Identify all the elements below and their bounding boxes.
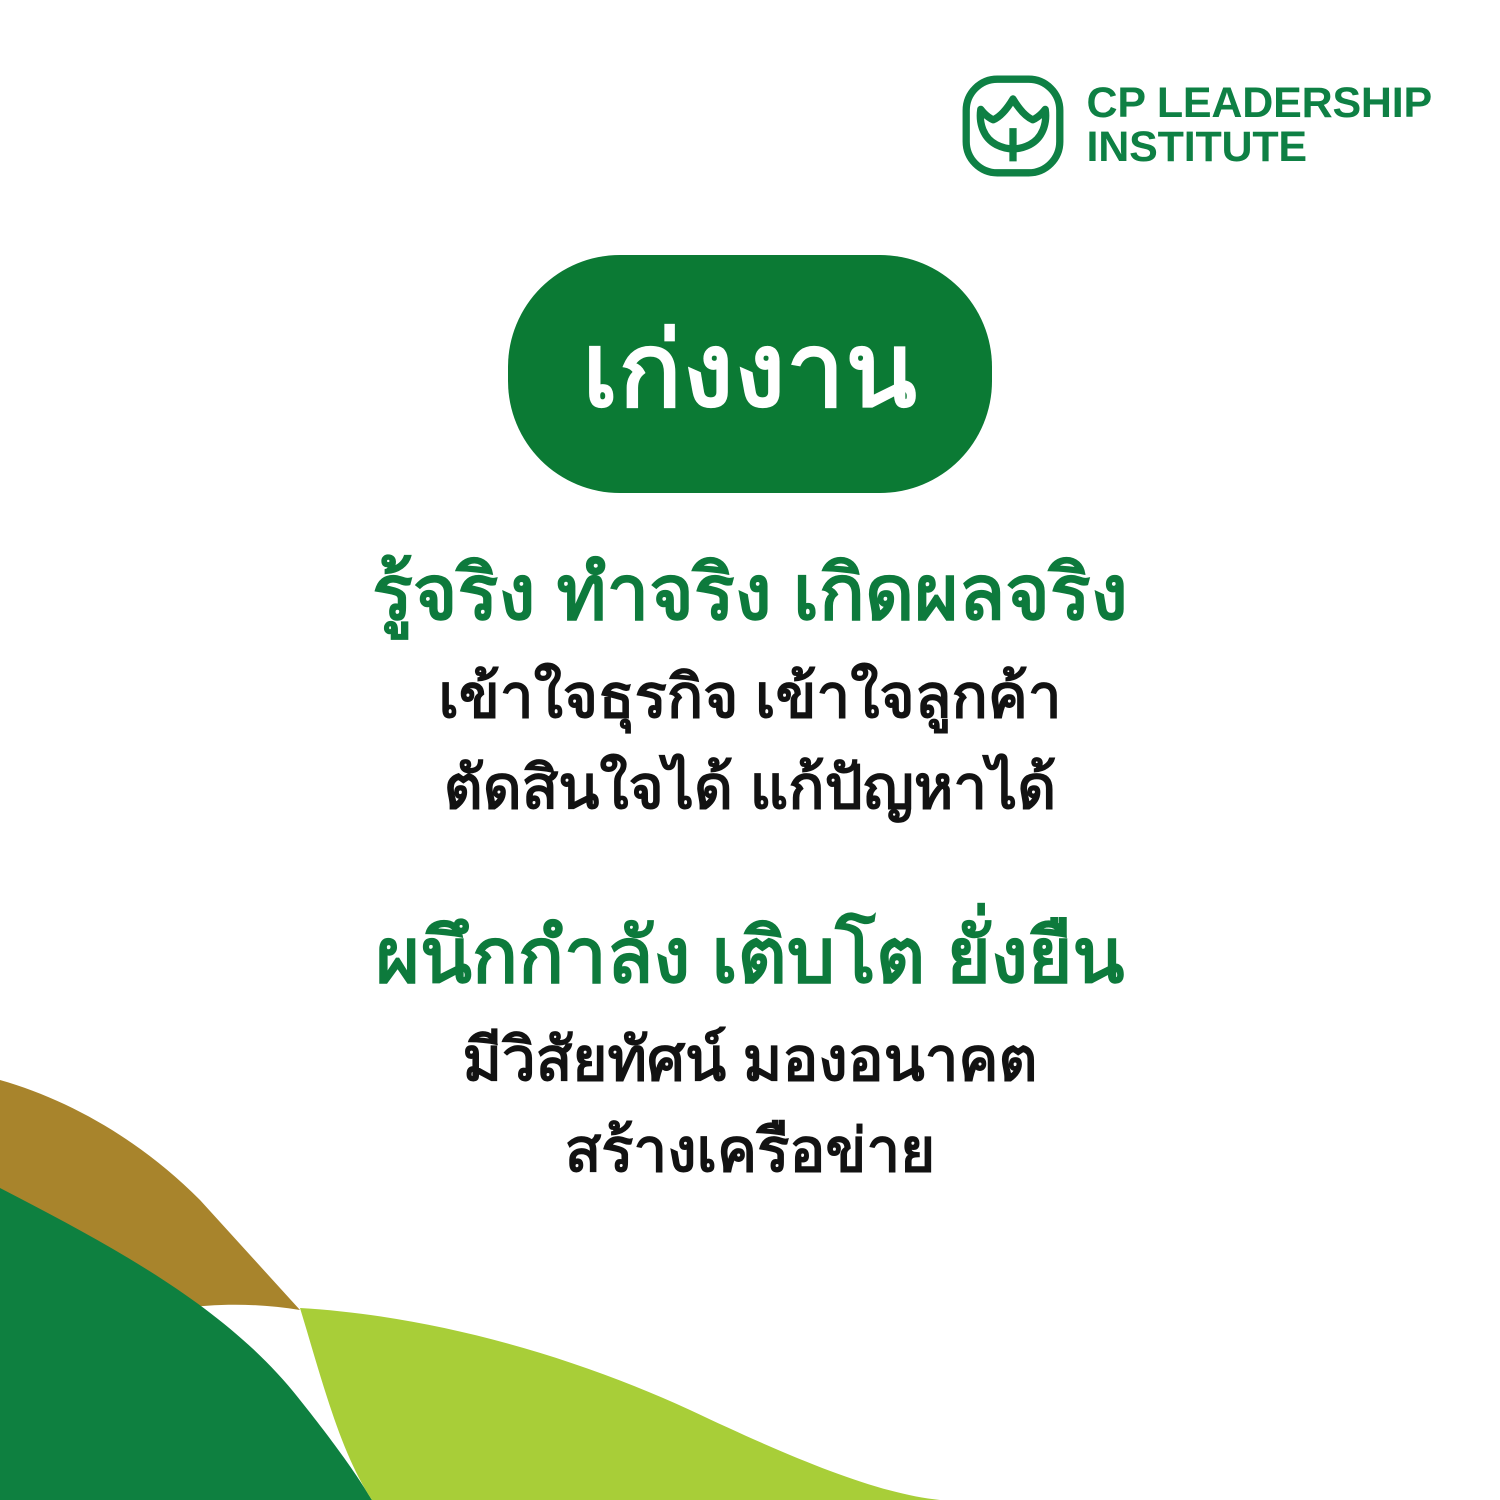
- message-lines-2: มีวิสัยทัศน์ มองอนาคต สร้างเครือข่าย: [0, 1014, 1500, 1196]
- competency-badge: เก่งงาน: [508, 255, 992, 493]
- competency-badge-label: เก่งงาน: [582, 319, 918, 423]
- brand-wordmark: CP LEADERSHIP INSTITUTE: [1087, 82, 1432, 170]
- message-line-1-2: ตัดสินใจได้ แก้ปัญหาได้: [0, 742, 1500, 833]
- cp-lotus-tree-icon: [961, 74, 1065, 178]
- message-group-2: ผนึกกำลัง เติบโต ยั่งยืน มีวิสัยทัศน์ มอ…: [0, 911, 1500, 1196]
- message-line-2-2: สร้างเครือข่าย: [0, 1105, 1500, 1196]
- message-heading-1: รู้จริง ทำจริง เกิดผลจริง: [0, 548, 1500, 641]
- message-lines-1: เข้าใจธุรกิจ เข้าใจลูกค้า ตัดสินใจได้ แก…: [0, 651, 1500, 833]
- message-group-1: รู้จริง ทำจริง เกิดผลจริง เข้าใจธุรกิจ เ…: [0, 548, 1500, 833]
- brand-wordmark-line-2: INSTITUTE: [1087, 126, 1432, 170]
- message-stack: รู้จริง ทำจริง เกิดผลจริง เข้าใจธุรกิจ เ…: [0, 548, 1500, 1196]
- message-line-1-1: เข้าใจธุรกิจ เข้าใจลูกค้า: [0, 651, 1500, 742]
- brand-wordmark-line-1: CP LEADERSHIP: [1087, 82, 1432, 126]
- poster-canvas: CP LEADERSHIP INSTITUTE เก่งงาน รู้จริง …: [0, 0, 1500, 1500]
- message-heading-2: ผนึกกำลัง เติบโต ยั่งยืน: [0, 911, 1500, 1004]
- lime-green-wave-shape: [300, 1308, 940, 1500]
- dark-green-wave-shape: [0, 1188, 372, 1500]
- brand-logo-lockup: CP LEADERSHIP INSTITUTE: [961, 74, 1432, 178]
- message-line-2-1: มีวิสัยทัศน์ มองอนาคต: [0, 1014, 1500, 1105]
